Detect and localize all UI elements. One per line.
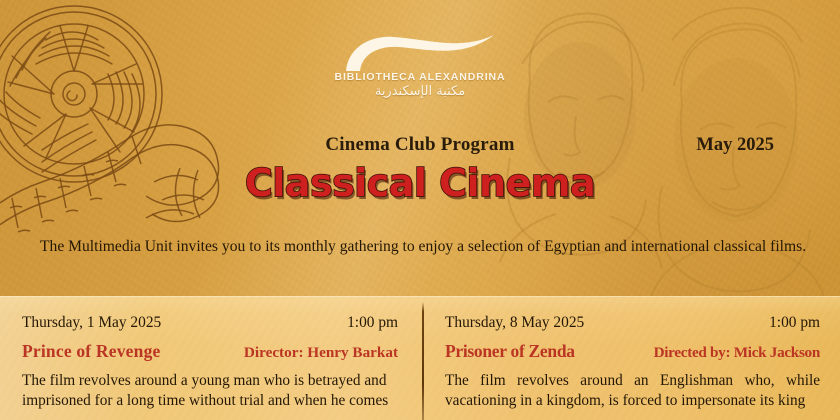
library-arch-icon — [344, 33, 496, 73]
bibliotheca-alexandrina-logo: BIBLIOTHECA ALEXANDRINA مكتبة الإسكندرية — [0, 33, 840, 99]
page-title: Classical Cinema — [0, 161, 840, 205]
film-time: 1:00 pm — [769, 314, 820, 332]
film-description: The film revolves around an Englishman w… — [445, 371, 820, 411]
film-director: Directed by: Mick Jackson — [654, 344, 820, 362]
film-meta-row: Thursday, 1 May 2025 1:00 pm — [22, 314, 398, 332]
film-meta-row: Thursday, 8 May 2025 1:00 pm — [445, 314, 820, 332]
intro-paragraph: The Multimedia Unit invites you to its m… — [40, 237, 812, 257]
program-month: May 2025 — [696, 135, 774, 156]
film-card-1: Thursday, 1 May 2025 1:00 pm Prince of R… — [0, 296, 420, 420]
logo-arabic-text: مكتبة الإسكندرية — [375, 84, 465, 99]
film-title-row: Prince of Revenge Director: Henry Barkat — [22, 341, 398, 362]
film-title-row: Prisoner of Zenda Directed by: Mick Jack… — [445, 341, 820, 362]
film-listings: Thursday, 1 May 2025 1:00 pm Prince of R… — [0, 296, 840, 420]
film-date: Thursday, 1 May 2025 — [22, 314, 161, 332]
film-director: Director: Henry Barkat — [244, 344, 398, 362]
logo-latin-text: BIBLIOTHECA ALEXANDRINA — [334, 71, 505, 83]
cinema-club-poster: BIBLIOTHECA ALEXANDRINA مكتبة الإسكندرية… — [0, 0, 840, 420]
film-date: Thursday, 8 May 2025 — [445, 314, 584, 332]
film-title: Prisoner of Zenda — [445, 341, 575, 362]
film-time: 1:00 pm — [347, 314, 398, 332]
film-title: Prince of Revenge — [22, 341, 161, 362]
film-card-2: Thursday, 8 May 2025 1:00 pm Prisoner of… — [420, 296, 840, 420]
film-description: The film revolves around a young man who… — [22, 371, 398, 411]
